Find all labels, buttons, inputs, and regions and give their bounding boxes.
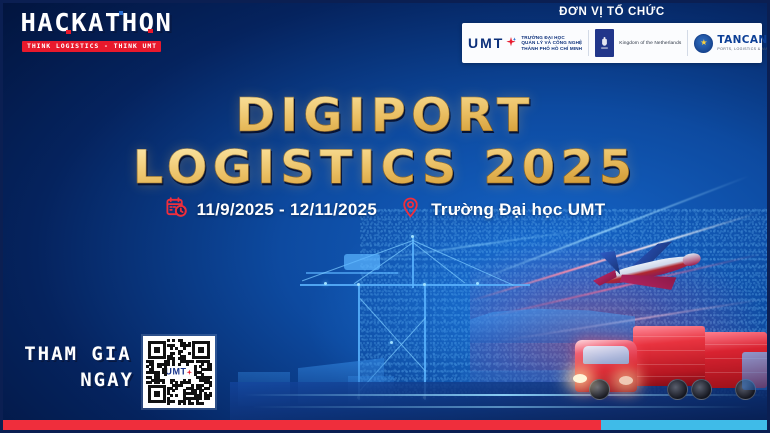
cta-line-2: NGAY [18, 368, 138, 394]
truck-windshield [583, 346, 629, 364]
hackathon-tagline-ribbon: THINK LOGISTICS - THINK UMT [22, 41, 161, 52]
qr-module [180, 350, 183, 353]
hackathon-logo: HACKATHON THINK LOGISTICS - THINK UMT [22, 10, 172, 53]
airplane-nose [682, 252, 702, 268]
qr-module [207, 397, 210, 400]
truck-wheel [667, 379, 688, 400]
qr-module [209, 384, 212, 387]
tancang-text-block: TANCANGSTC PORTS, LOGISTICS & MARITIME E… [717, 35, 770, 52]
qr-module [149, 381, 152, 384]
logo-divider [588, 30, 589, 56]
distant-truck-graphic [742, 352, 770, 390]
qr-module [188, 352, 191, 355]
map-pin-icon [399, 196, 422, 224]
qr-module [207, 387, 210, 390]
qr-module [167, 363, 170, 366]
netherlands-logo: Kingdom of the Netherlands [595, 23, 681, 63]
qr-module [172, 389, 175, 392]
qr-module [172, 339, 175, 342]
sparkle-icon [506, 34, 516, 52]
qr-module [209, 368, 212, 371]
qr-module [175, 387, 178, 390]
qr-module [172, 400, 175, 403]
truck-headlight [619, 376, 633, 385]
stripe-cyan-segment [601, 420, 770, 433]
qr-module [186, 363, 189, 366]
organizer-section: ĐƠN VỊ TỔ CHỨC UMT TRƯỜNG ĐẠI HỌC QUẢN L… [462, 6, 762, 63]
tancang-stc-logo: ★ TANCANGSTC PORTS, LOGISTICS & MARITIME… [694, 23, 770, 63]
logo-divider [687, 30, 688, 56]
tancang-word: TANCANG [717, 34, 770, 46]
qr-finder-pattern [192, 341, 210, 359]
event-location-item: Trường Đại học UMT [399, 196, 605, 224]
title-line-2: LOGISTICS 2025 [0, 144, 770, 192]
title-line-1: DIGIPORT [0, 92, 770, 140]
qr-module [175, 394, 178, 397]
umt-name-line: QUẢN LÝ VÀ CÔNG NGHỆ [521, 40, 582, 45]
tancang-tagline: PORTS, LOGISTICS & MARITIME EXPERTS [717, 47, 770, 51]
qr-module [157, 381, 160, 384]
qr-module [167, 339, 170, 342]
calendar-clock-icon [165, 196, 188, 224]
qr-module [191, 360, 194, 363]
logo-accent-block [66, 30, 71, 34]
netherlands-label: Kingdom of the Netherlands [619, 41, 681, 46]
qr-module [201, 363, 204, 366]
logo-accent-block [148, 29, 153, 33]
qr-module [188, 344, 191, 347]
organizer-heading: ĐƠN VỊ TỔ CHỨC [462, 6, 762, 18]
event-meta-row: 11/9/2025 - 12/11/2025 Trường Đại học UM… [0, 196, 770, 224]
truck-wheel [589, 379, 610, 400]
cta-line-1: THAM GIA [18, 342, 138, 368]
qr-module [178, 402, 181, 405]
truck-container-front [633, 326, 705, 386]
qr-finder-pattern [148, 341, 166, 359]
qr-module [162, 381, 165, 384]
hackathon-tagline: THINK LOGISTICS - THINK UMT [27, 43, 157, 50]
qr-module [199, 397, 202, 400]
qr-logo-text: UMT [165, 368, 186, 377]
qr-module [201, 402, 204, 405]
qr-module [191, 402, 194, 405]
organizer-logo-bar: UMT TRƯỜNG ĐẠI HỌC QUẢN LÝ VÀ CÔNG NGHỆ … [462, 23, 762, 63]
qr-module [183, 402, 186, 405]
qr-module [209, 376, 212, 379]
qr-module [170, 347, 173, 350]
road-lane-line [252, 406, 752, 408]
star-glyph: ★ [700, 39, 707, 47]
qr-module [180, 384, 183, 387]
qr-module [172, 352, 175, 355]
royal-crest-icon [595, 29, 614, 57]
umt-university-name: TRƯỜNG ĐẠI HỌC QUẢN LÝ VÀ CÔNG NGHỆ THÀN… [521, 35, 582, 51]
qr-module [178, 363, 181, 366]
qr-code[interactable]: UMT [143, 336, 215, 408]
qr-module [164, 373, 167, 376]
qr-module [170, 394, 173, 397]
event-date-item: 11/9/2025 - 12/11/2025 [165, 196, 378, 224]
qr-module [209, 394, 212, 397]
qr-finder-pattern [148, 385, 166, 403]
event-location: Trường Đại học UMT [431, 200, 605, 220]
truck-wheel [691, 379, 712, 400]
umt-logo: UMT TRƯỜNG ĐẠI HỌC QUẢN LÝ VÀ CÔNG NGHỆ … [468, 23, 582, 63]
logo-accent-block [119, 11, 123, 15]
truck-headlight [573, 374, 587, 383]
qr-module [172, 363, 175, 366]
join-now-cta: THAM GIA NGAY [18, 342, 138, 393]
sparkle-icon [187, 369, 193, 375]
qr-module [167, 402, 170, 405]
umt-name-line: THÀNH PHỐ HỒ CHÍ MINH [521, 46, 582, 51]
umt-wordmark: UMT [468, 36, 504, 50]
tancang-wordmark: TANCANGSTC [717, 35, 770, 46]
cargo-truck-graphic [575, 318, 767, 400]
qr-module [183, 347, 186, 350]
event-poster: HACKATHON THINK LOGISTICS - THINK UMT ĐƠ… [0, 0, 770, 433]
star-anchor-icon: ★ [694, 34, 713, 53]
event-date: 11/9/2025 - 12/11/2025 [197, 200, 378, 220]
event-title: DIGIPORT LOGISTICS 2025 [0, 92, 770, 192]
stripe-red-segment [0, 420, 601, 433]
bottom-stripe [0, 420, 770, 433]
qr-code-canvas: UMT [146, 339, 212, 405]
